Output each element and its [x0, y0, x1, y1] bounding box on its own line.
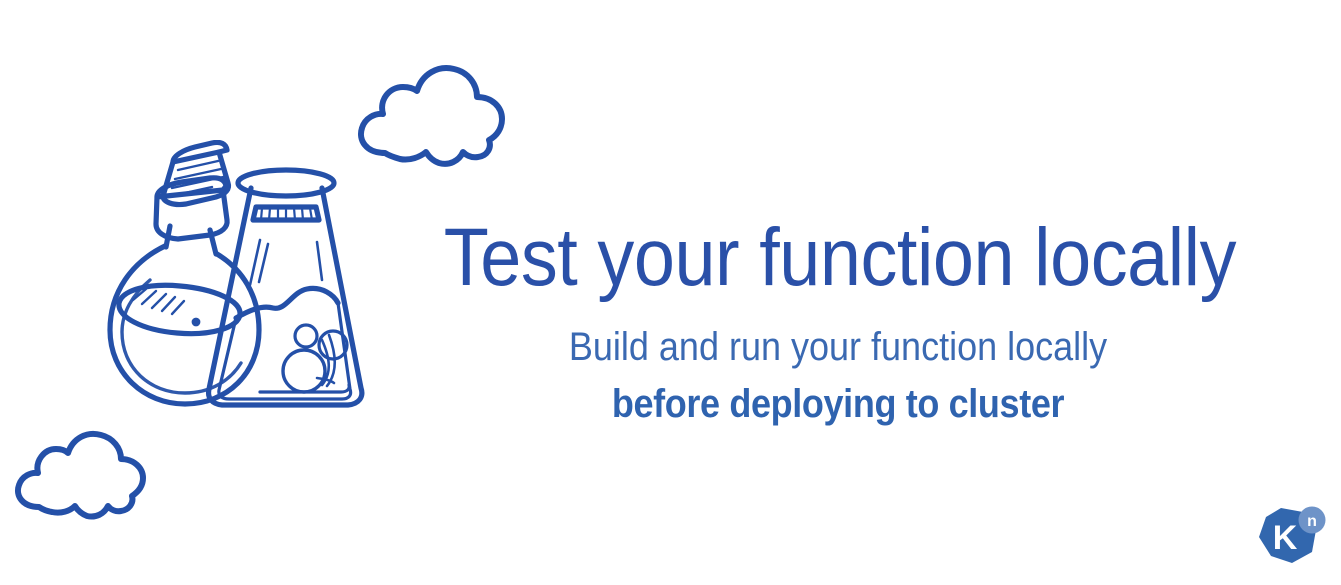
cloud-bottom-icon	[8, 428, 158, 520]
logo-letter-k: K	[1273, 519, 1298, 557]
subtitle-line-1: Build and run your function locally	[444, 324, 1232, 370]
slide-canvas: Test your function locally Build and run…	[0, 0, 1341, 585]
subtitle-line-2: before deploying to cluster	[444, 381, 1232, 427]
knative-logo: K n	[1254, 506, 1330, 570]
cloud-top-icon	[352, 60, 512, 172]
logo-letter-n: n	[1307, 513, 1317, 530]
flasks-illustration	[60, 140, 390, 430]
page-title: Test your function locally	[444, 216, 1232, 300]
text-block: Test your function locally Build and run…	[400, 216, 1276, 427]
